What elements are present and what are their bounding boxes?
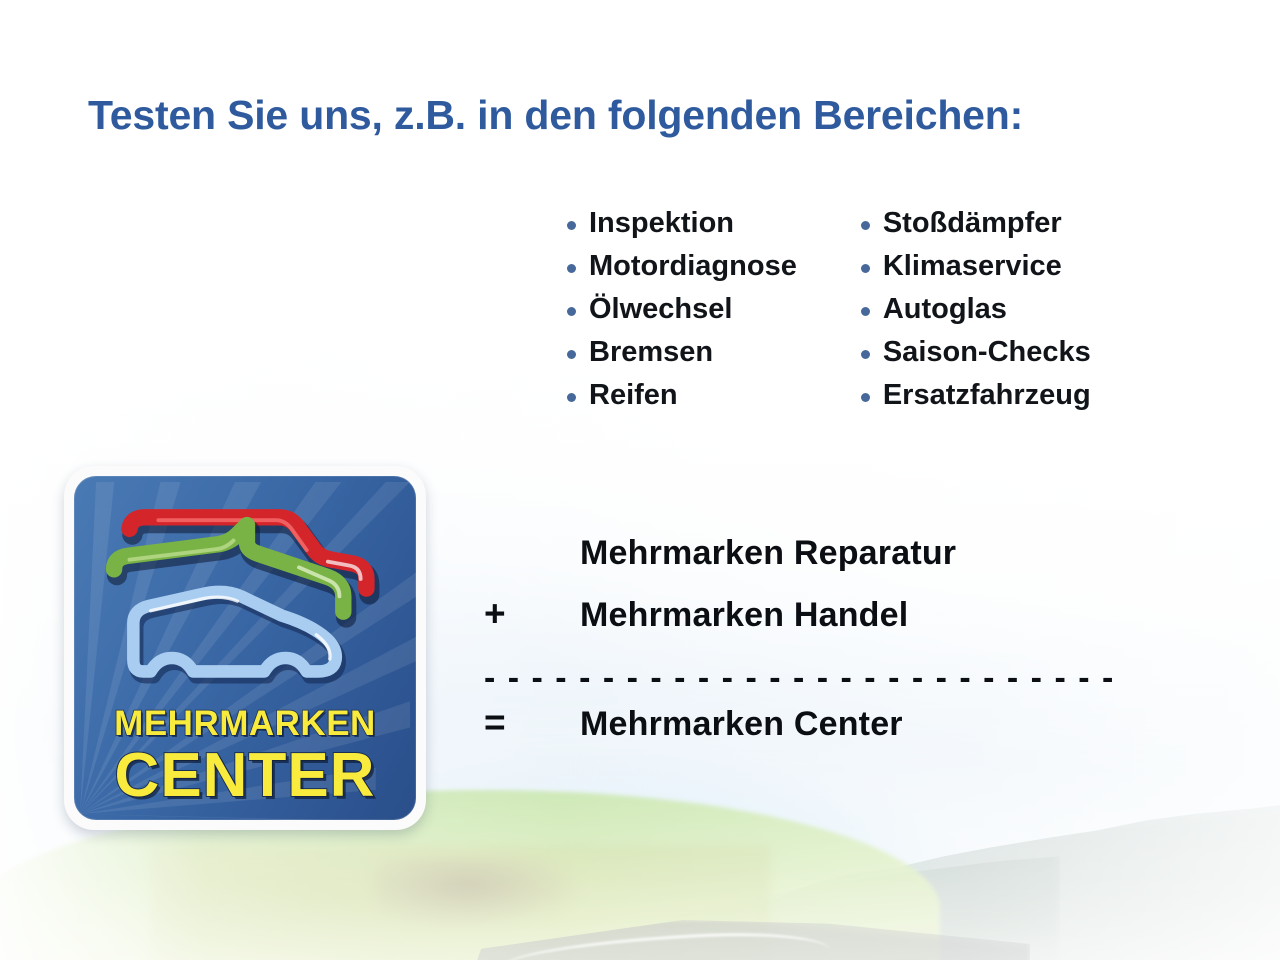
list-item: Inspektion [565,202,797,245]
page-title: Testen Sie uns, z.B. in den folgenden Be… [88,92,1023,139]
logo-wordmark-line-2: CENTER [74,744,416,808]
list-item: Bremsen [565,331,797,374]
list-item: Ölwechsel [565,288,797,331]
equation-divider: - - - - - - - - - - - - - - - - - - - - … [484,656,1124,700]
list-item: Motordiagnose [565,245,797,288]
equation-operator-plus: + [484,593,580,635]
list-item: Saison-Checks [859,331,1091,374]
logo-panel: MEHRMARKEN CENTER [74,476,416,820]
service-lists: Inspektion Motordiagnose Ölwechsel Brems… [565,202,1091,417]
service-list-left: Inspektion Motordiagnose Ölwechsel Brems… [565,202,797,417]
logo-wordmark-line-1: MEHRMARKEN [74,704,416,744]
list-item: Ersatzfahrzeug [859,374,1091,417]
vehicle-outlines-icon [98,500,392,693]
equation-term: Mehrmarken Reparatur [580,534,956,573]
list-item: Klimaservice [859,245,1091,288]
service-list-right: Stoßdämpfer Klimaservice Autoglas Saison… [859,202,1091,417]
equation-result-term: Mehrmarken Center [580,705,903,744]
logo-wordmark: MEHRMARKEN CENTER [74,704,416,808]
list-item: Reifen [565,374,797,417]
equation-operator-equals: = [484,702,580,744]
equation-row-2: + Mehrmarken Handel [484,593,1124,652]
list-item: Autoglas [859,288,1091,331]
slide-canvas: Testen Sie uns, z.B. in den folgenden Be… [0,0,1280,960]
equation-row-1: Mehrmarken Reparatur [484,534,1124,593]
slide-content: Testen Sie uns, z.B. in den folgenden Be… [0,0,1280,960]
list-item: Stoßdämpfer [859,202,1091,245]
equation-block: Mehrmarken Reparatur + Mehrmarken Handel… [484,534,1124,761]
car-outline-icon [133,592,338,676]
mehrmarken-center-logo[interactable]: MEHRMARKEN CENTER [64,466,426,830]
equation-row-result: = Mehrmarken Center [484,702,1124,761]
equation-term: Mehrmarken Handel [580,596,908,635]
